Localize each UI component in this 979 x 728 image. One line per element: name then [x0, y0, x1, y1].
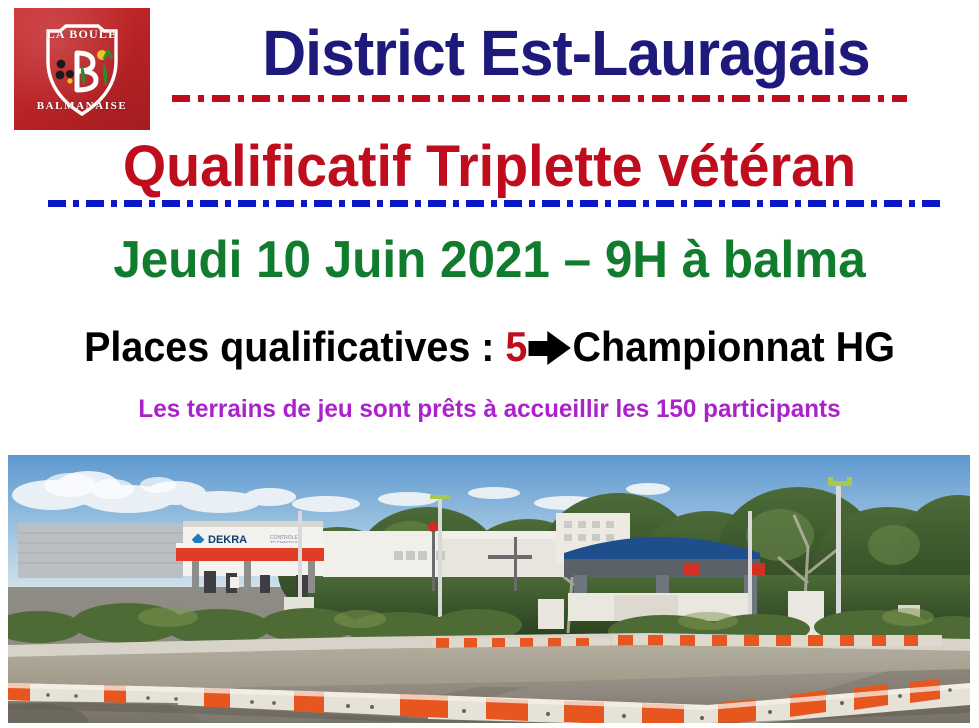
poster-header: LA BOULE BALMANAISE District Est-Lauraga… — [0, 0, 979, 132]
logo-text-top: LA BOULE — [14, 27, 150, 42]
club-logo: LA BOULE BALMANAISE — [14, 8, 150, 130]
page-title: District Est-Lauragais — [180, 16, 951, 90]
venue-photo-illustration: DEKRA CONTROLE TECHNIQUE — [8, 455, 970, 723]
event-date-line: Jeudi 10 Juin 2021 – 9H à balma — [24, 230, 954, 290]
qualifying-places-target: Championnat HG — [572, 323, 894, 370]
poster-canvas: LA BOULE BALMANAISE District Est-Lauraga… — [0, 0, 979, 728]
right-arrow-icon — [528, 331, 571, 365]
logo-text-bottom: BALMANAISE — [14, 100, 150, 112]
venue-photo: DEKRA CONTROLE TECHNIQUE — [8, 455, 970, 723]
qualifying-places-prefix: Places qualificatives : — [84, 323, 505, 370]
qualifying-places-line: Places qualificatives : 5Championnat HG — [29, 322, 949, 372]
qualifying-places-count: 5 — [505, 323, 527, 370]
title-underline-dash-dot — [172, 95, 907, 102]
terrains-ready-note: Les terrains de jeu sont prêts à accueil… — [15, 393, 965, 425]
subtitle-qualification: Qualificatif Triplette vétéran — [20, 134, 960, 200]
subtitle-underline-dash-dot — [48, 200, 946, 207]
